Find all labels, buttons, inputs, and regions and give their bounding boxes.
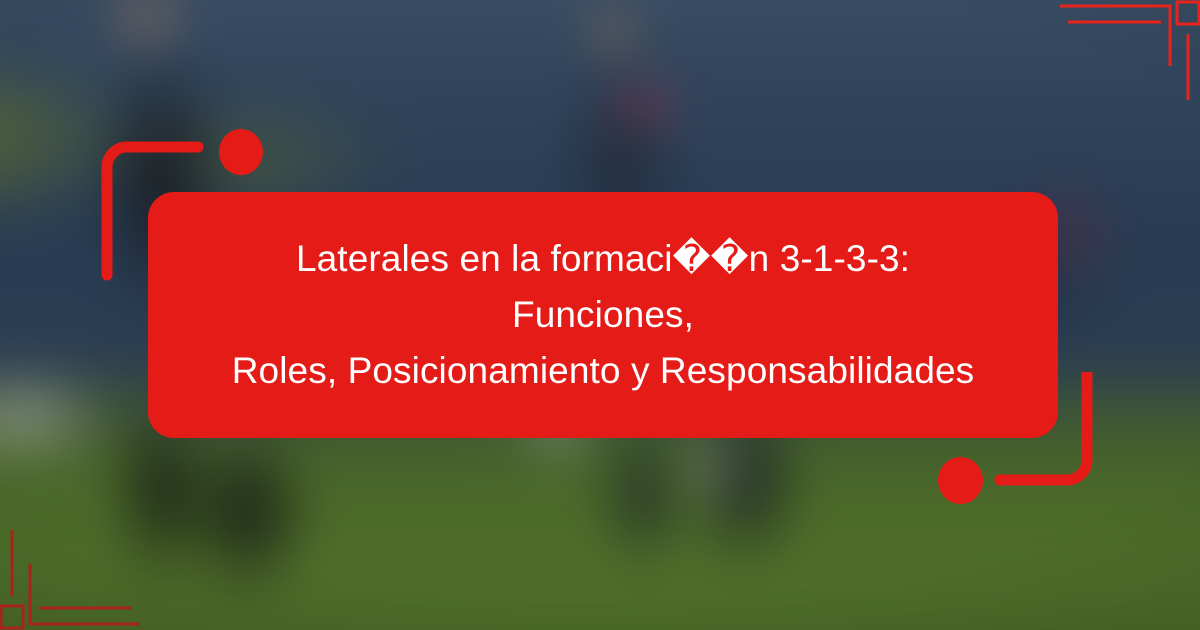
share-card-canvas: Laterales en la formaci��n 3-1-3-3: Func… [0, 0, 1200, 630]
accent-dot-bottom-right [938, 457, 983, 504]
accent-dot-top-left [219, 129, 263, 175]
title-card: Laterales en la formaci��n 3-1-3-3: Func… [148, 192, 1058, 438]
page-title: Laterales en la formaci��n 3-1-3-3: Func… [222, 231, 984, 400]
